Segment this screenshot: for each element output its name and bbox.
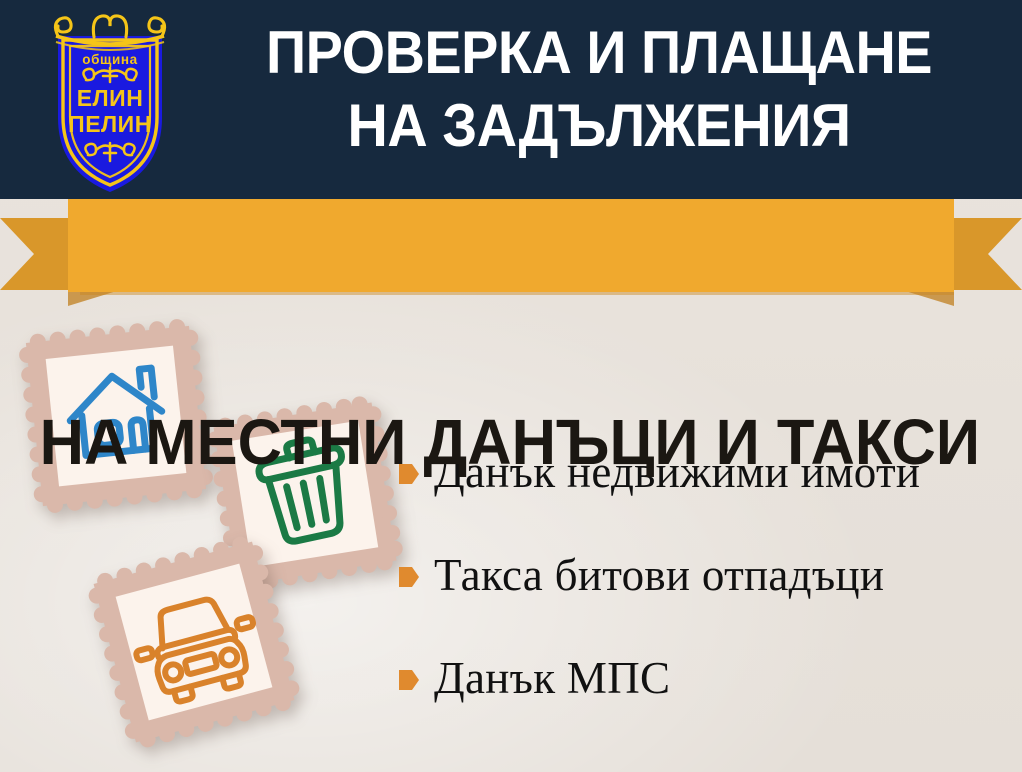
crest-scroll-right	[149, 18, 165, 36]
stamp-card-house	[12, 312, 220, 525]
crest-municipality-word: община	[82, 52, 138, 67]
ribbon-banner: НА МЕСТНИ ДАНЪЦИ И ТАКСИ	[0, 196, 1022, 306]
municipality-crest-logo: община ЕЛИН ПЕЛИН	[36, 6, 184, 198]
arrow-bullet-icon	[398, 564, 420, 590]
arrow-bullet-icon	[398, 461, 420, 487]
arrow-bullet-icon	[398, 667, 420, 693]
stamp-card-car	[88, 536, 300, 753]
crest-name-line-1: ЕЛИН	[77, 85, 144, 111]
list-item-label: Данък МПС	[434, 652, 670, 704]
tax-types-list: Данък недвижими имоти Такса битови отпад…	[398, 420, 1012, 729]
poster-root: ПРОВЕРКА И ПЛАЩАНЕ НА ЗАДЪЛЖЕНИЯ община	[0, 0, 1022, 772]
stamp-paper-house	[46, 346, 187, 487]
page-title-line-2: НА ЗАДЪЛЖЕНИЯ	[215, 89, 983, 162]
list-item[interactable]: Данък недвижими имоти	[398, 420, 1012, 523]
crest-name-line-2: ПЕЛИН	[68, 111, 152, 137]
ribbon-main-bar	[68, 199, 954, 292]
page-title-line-1: ПРОВЕРКА И ПЛАЩАНЕ	[266, 19, 932, 86]
list-item[interactable]: Данък МПС	[398, 626, 1012, 729]
list-item-label: Такса битови отпадъци	[434, 549, 884, 601]
stamp-card-group	[0, 296, 420, 772]
list-item-label: Данък недвижими имоти	[434, 446, 920, 498]
crest-scroll-center	[93, 16, 126, 37]
crest-scroll-left	[55, 18, 71, 36]
list-item[interactable]: Такса битови отпадъци	[398, 523, 1012, 626]
page-title: ПРОВЕРКА И ПЛАЩАНЕ НА ЗАДЪЛЖЕНИЯ	[215, 16, 983, 162]
